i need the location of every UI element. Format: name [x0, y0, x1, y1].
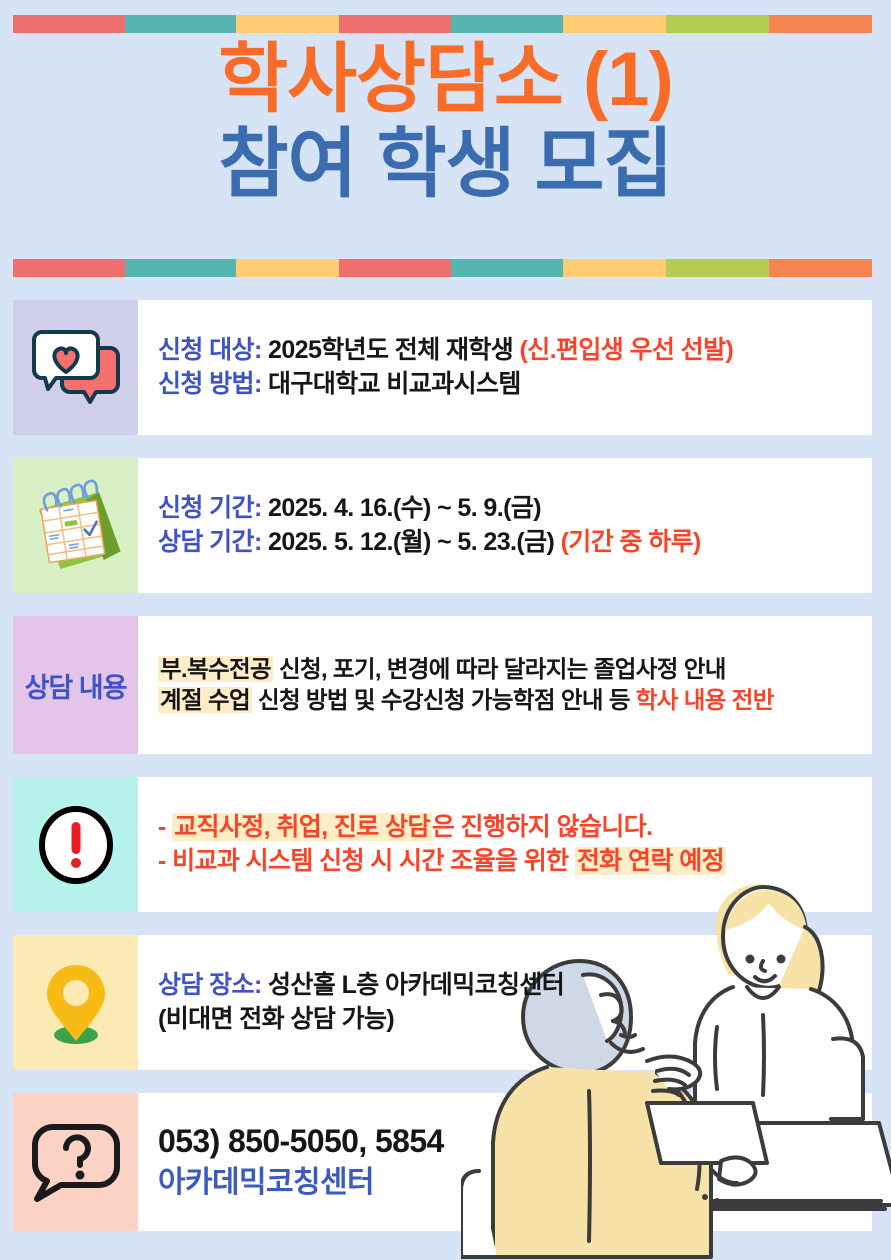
- text-line: 신청 기간: 2025. 4. 16.(수) ~ 5. 9.(금): [158, 492, 866, 526]
- text-line: 상담 장소: 성산홀 L층 아카데믹코칭센터: [158, 969, 866, 1003]
- color-stripe-segment-4: [451, 259, 563, 277]
- desk-calendar-icon: [24, 478, 128, 574]
- info-row-contact: 053) 850-5050, 5854 아카데믹코칭센터: [13, 1093, 872, 1231]
- color-stripe-segment-1: [125, 259, 237, 277]
- info-row-notice: - 교직사정, 취업, 진로 상담은 진행하지 않습니다. - 비교과 시스템 …: [13, 777, 872, 912]
- highlighted-term: 부.복수전공: [158, 656, 273, 682]
- field-label: 신청 대상:: [158, 336, 268, 364]
- phone-number: 053) 850-5050, 5854: [158, 1120, 866, 1163]
- section-label: 상담 내용: [25, 666, 127, 705]
- field-label: 상담 장소:: [158, 971, 268, 999]
- poster-root: 학사상담소 (1) 참여 학생 모집 신청 대상: 2025학년도 전체 재학생…: [0, 0, 891, 1260]
- row-content: 신청 기간: 2025. 4. 16.(수) ~ 5. 9.(금) 상담 기간:…: [138, 458, 872, 593]
- icon-cell: [13, 458, 138, 593]
- question-speech-bubble-icon: [31, 1121, 121, 1203]
- row-content: 신청 대상: 2025학년도 전체 재학생 (신.편입생 우선 선발) 신청 방…: [138, 300, 872, 435]
- info-row-location: 상담 장소: 성산홀 L층 아카데믹코칭센터 (비대면 전화 상담 가능): [13, 935, 872, 1070]
- color-stripe-segment-7: [769, 15, 872, 33]
- bullet-dash: -: [158, 813, 172, 841]
- color-stripe-top: [13, 15, 872, 33]
- row-content: 상담 장소: 성산홀 L층 아카데믹코칭센터 (비대면 전화 상담 가능): [138, 935, 872, 1070]
- info-row-topics: 상담 내용 부.복수전공 신청, 포기, 변경에 따라 달라지는 졸업사정 안내…: [13, 616, 872, 754]
- center-name: 아카데믹코칭센터: [158, 1163, 866, 1203]
- color-stripe-segment-3: [339, 15, 451, 33]
- text-line: 신청 대상: 2025학년도 전체 재학생 (신.편입생 우선 선발): [158, 334, 866, 368]
- text-line: 부.복수전공 신청, 포기, 변경에 따라 달라지는 졸업사정 안내: [158, 654, 866, 685]
- title-line-1: 학사상담소 (1): [0, 40, 891, 119]
- info-row-period: 신청 기간: 2025. 4. 16.(수) ~ 5. 9.(금) 상담 기간:…: [13, 458, 872, 593]
- field-note: (신.편입생 우선 선발): [520, 336, 734, 364]
- icon-cell: 상담 내용: [13, 616, 138, 754]
- field-value: (비대면 전화 상담 가능): [158, 1005, 394, 1033]
- color-stripe-segment-6: [666, 15, 769, 33]
- color-stripe-segment-2: [236, 259, 339, 277]
- center-value: 아카데믹코칭센터: [158, 1166, 374, 1199]
- highlighted-term: 계절 수업: [158, 687, 252, 713]
- field-label: 상담 기간:: [158, 528, 268, 556]
- field-value: 대구대학교 비교과시스템: [268, 370, 521, 398]
- color-stripe-segment-3: [339, 259, 451, 277]
- icon-cell: [13, 935, 138, 1070]
- field-value: 2025. 4. 16.(수) ~ 5. 9.(금): [268, 494, 541, 522]
- phone-value: 053) 850-5050, 5854: [158, 1123, 444, 1159]
- field-value: 2025학년도 전체 재학생: [268, 336, 519, 364]
- text-line: 신청 방법: 대구대학교 비교과시스템: [158, 368, 866, 402]
- field-value: 신청 방법 및 수강신청 가능학점 안내 등: [252, 687, 636, 713]
- title-line-2: 참여 학생 모집: [0, 125, 891, 204]
- icon-cell: [13, 1093, 138, 1231]
- field-note: 학사 내용 전반: [636, 687, 774, 713]
- highlighted-term: 전화 연락 예정: [575, 847, 726, 875]
- color-stripe-segment-5: [563, 259, 666, 277]
- field-note: (기간 중 하루): [561, 528, 701, 556]
- icon-cell: [13, 777, 138, 912]
- field-value: 2025. 5. 12.(월) ~ 5. 23.(금): [268, 528, 561, 556]
- row-content: 053) 850-5050, 5854 아카데믹코칭센터: [138, 1093, 872, 1231]
- color-stripe-segment-0: [13, 15, 125, 33]
- field-value: 성산홀 L층 아카데믹코칭센터: [268, 971, 564, 999]
- text-line: - 비교과 시스템 신청 시 시간 조율을 위한 전화 연락 예정: [158, 845, 866, 879]
- exclamation-circle-icon: [33, 802, 119, 888]
- color-stripe-segment-0: [13, 259, 125, 277]
- color-stripe-segment-6: [666, 259, 769, 277]
- info-row-application: 신청 대상: 2025학년도 전체 재학생 (신.편입생 우선 선발) 신청 방…: [13, 300, 872, 435]
- field-value: 은 진행하지 않습니다.: [432, 813, 653, 841]
- text-line: 상담 기간: 2025. 5. 12.(월) ~ 5. 23.(금) (기간 중…: [158, 526, 866, 560]
- color-stripe-segment-4: [451, 15, 563, 33]
- row-content: 부.복수전공 신청, 포기, 변경에 따라 달라지는 졸업사정 안내 계절 수업…: [138, 616, 872, 754]
- color-stripe-segment-5: [563, 15, 666, 33]
- text-line: (비대면 전화 상담 가능): [158, 1003, 866, 1037]
- color-stripe-segment-2: [236, 15, 339, 33]
- text-line: 계절 수업 신청 방법 및 수강신청 가능학점 안내 등 학사 내용 전반: [158, 685, 866, 716]
- field-value: 신청, 포기, 변경에 따라 달라지는 졸업사정 안내: [273, 656, 726, 682]
- color-stripe-bottom: [13, 259, 872, 277]
- field-value: - 비교과 시스템 신청 시 시간 조율을 위한: [158, 847, 575, 875]
- icon-cell: [13, 300, 138, 435]
- field-label: 신청 기간:: [158, 494, 268, 522]
- poster-title: 학사상담소 (1) 참여 학생 모집: [0, 40, 891, 204]
- color-stripe-segment-1: [125, 15, 237, 33]
- row-content: - 교직사정, 취업, 진로 상담은 진행하지 않습니다. - 비교과 시스템 …: [138, 777, 872, 912]
- heart-speech-bubble-icon: [30, 326, 122, 410]
- color-stripe-segment-7: [769, 259, 872, 277]
- highlighted-term: 교직사정, 취업, 진로 상담: [172, 813, 432, 841]
- text-line: - 교직사정, 취업, 진로 상담은 진행하지 않습니다.: [158, 811, 866, 845]
- location-pin-icon: [38, 957, 114, 1049]
- field-label: 신청 방법:: [158, 370, 268, 398]
